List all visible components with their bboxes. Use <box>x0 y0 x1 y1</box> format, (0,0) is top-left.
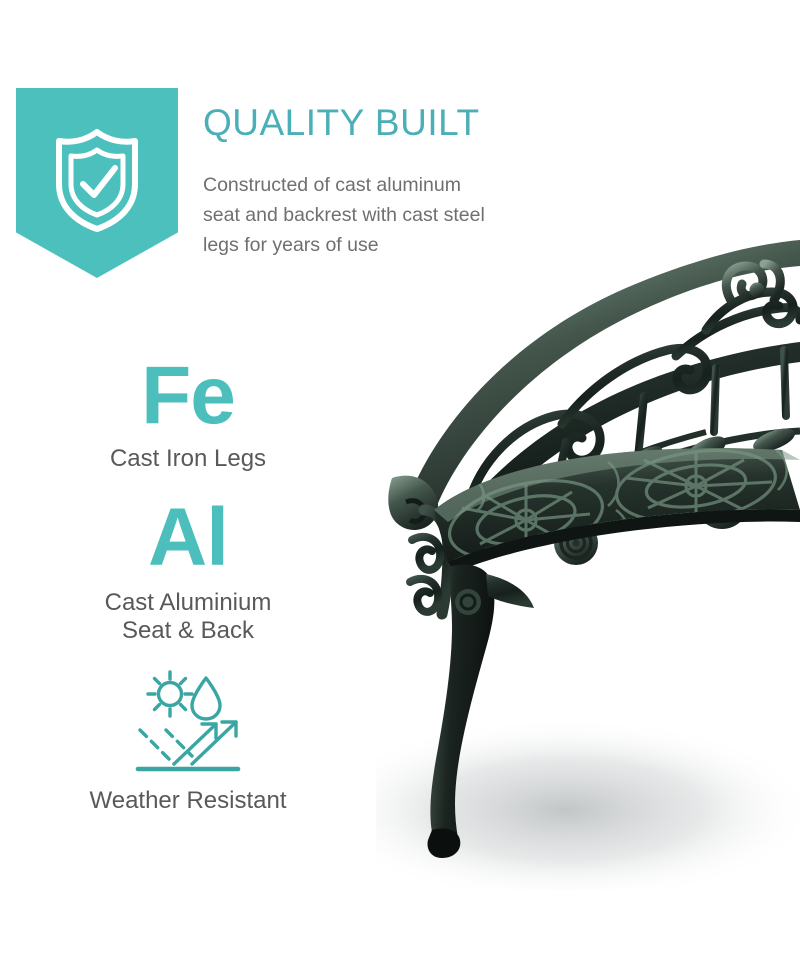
iron-symbol: Fe <box>0 355 376 437</box>
product-image <box>376 210 800 890</box>
iron-caption-line-1: Cast Iron Legs <box>110 445 266 472</box>
aluminium-caption-line-1: Cast Aluminium <box>0 589 376 617</box>
material-item-iron: Fe Cast Iron Legs <box>0 355 376 473</box>
weather-resistant-caption: Weather Resistant <box>0 787 376 815</box>
aluminium-caption-line-2: Seat & Back <box>0 617 376 645</box>
infographic-page: QUALITY BUILT Constructed of cast alumin… <box>0 0 800 977</box>
quality-built-title: QUALITY BUILT <box>203 102 480 144</box>
quality-badge <box>16 88 178 278</box>
aluminium-caption: Cast Aluminium Seat & Back <box>0 589 376 646</box>
iron-caption: Cast Iron Legs <box>0 445 376 473</box>
material-item-aluminium: Al Cast Aluminium Seat & Back <box>0 497 376 646</box>
weather-resistant-item: Weather Resistant <box>0 668 376 815</box>
description-line-1: Constructed of cast aluminum <box>203 170 603 200</box>
weather-resistant-icon <box>130 668 246 776</box>
shield-check-icon <box>49 126 145 234</box>
aluminium-symbol: Al <box>0 497 376 579</box>
garden-bench-illustration <box>376 210 800 890</box>
